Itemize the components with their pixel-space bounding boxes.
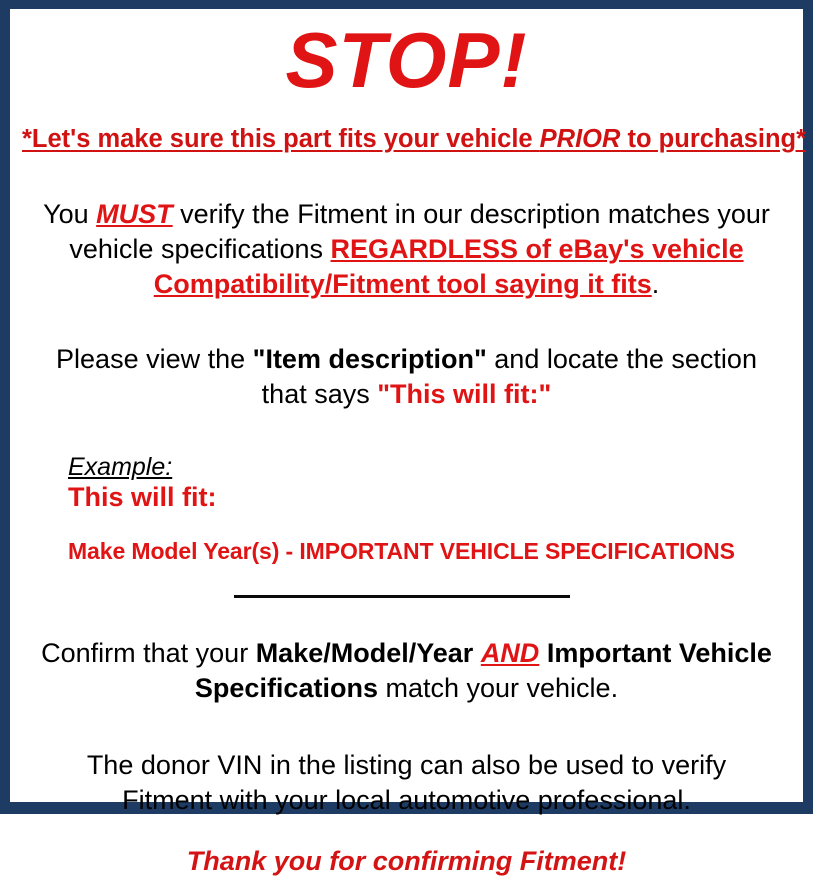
confirm-text-part1: Confirm that your [41, 638, 256, 668]
example-block: Example: This will fit: Make Model Year(… [22, 453, 791, 566]
item-description-emphasis: "Item description" [253, 344, 487, 374]
confirm-paragraph: Confirm that your Make/Model/Year AND Im… [22, 636, 791, 706]
and-emphasis: AND [481, 638, 540, 668]
stop-headline: STOP! [22, 21, 791, 99]
please-view-paragraph: Please view the "Item description" and l… [22, 342, 791, 412]
subtitle-text-before: *Let's make sure this part fits your veh… [22, 125, 540, 153]
make-model-year-emphasis: Make/Model/Year [256, 638, 474, 668]
this-will-fit-emphasis: "This will fit:" [377, 379, 551, 409]
must-emphasis: MUST [96, 199, 173, 229]
please-text-part1: Please view the [56, 344, 253, 374]
section-divider [234, 595, 570, 598]
example-label: Example: [68, 453, 791, 482]
thank-you-line: Thank you for confirming Fitment! [22, 845, 791, 877]
divider-wrap [22, 591, 791, 605]
donor-vin-paragraph: The donor VIN in the listing can also be… [22, 748, 791, 818]
must-text-part1: You [43, 199, 96, 229]
subtitle-line: *Let's make sure this part fits your veh… [22, 125, 791, 153]
confirm-space-1 [473, 638, 481, 668]
notice-content: STOP! *Let's make sure this part fits yo… [10, 21, 803, 814]
example-fit-heading: This will fit: [68, 482, 791, 514]
confirm-space-2 [539, 638, 547, 668]
example-spec-line: Make Model Year(s) - IMPORTANT VEHICLE S… [68, 538, 791, 566]
must-verify-paragraph: You MUST verify the Fitment in our descr… [22, 197, 791, 302]
subtitle-prior-emphasis: PRIOR [540, 125, 621, 153]
confirm-text-part2: match your vehicle. [378, 673, 618, 703]
must-text-part3: . [652, 269, 660, 299]
subtitle-text-after: to purchasing* [620, 125, 806, 153]
fitment-notice-card: STOP! *Let's make sure this part fits yo… [0, 0, 813, 814]
